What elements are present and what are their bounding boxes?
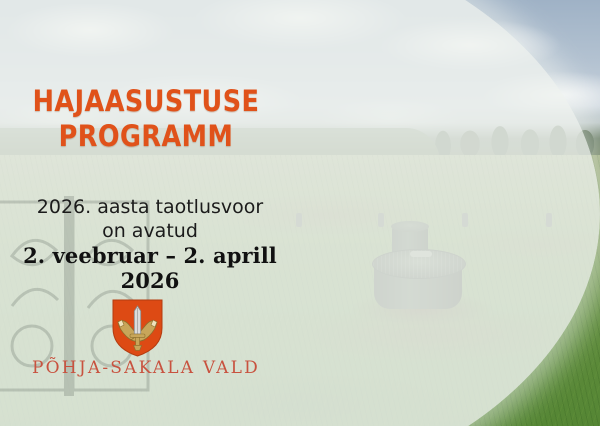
poster-content: HAJAASUSTUSE PROGRAMM 2026. aasta taotlu… [0, 0, 300, 426]
application-date-range: 2. veebruar – 2. aprill 2026 [0, 243, 300, 293]
poster: HAJAASUSTUSE PROGRAMM 2026. aasta taotlu… [0, 0, 600, 426]
subtitle-line-1: 2026. aasta taotlusvoor [0, 196, 300, 220]
subtitle-line-2: on avatud [0, 220, 300, 244]
municipality-name: PÕHJA-SAKALA VALD [0, 358, 292, 378]
title-line-2: PROGRAMM [18, 119, 275, 154]
coat-of-arms-icon [110, 298, 165, 358]
poster-title: HAJAASUSTUSE PROGRAMM [18, 84, 275, 155]
title-line-1: HAJAASUSTUSE [33, 84, 260, 118]
poster-subtitle: 2026. aasta taotlusvoor on avatud [0, 196, 300, 243]
